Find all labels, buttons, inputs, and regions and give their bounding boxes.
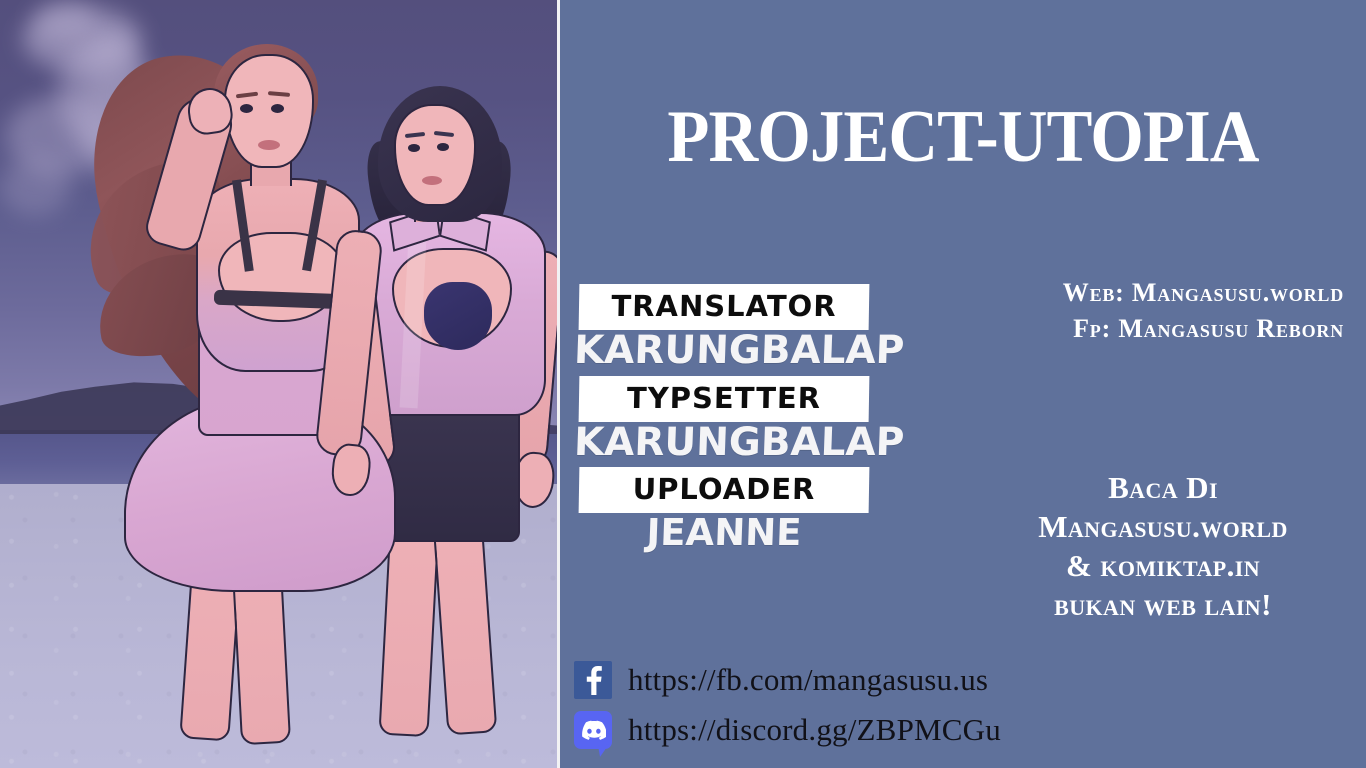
social-links-block: https://fb.com/mangasusu.us https://disc… (574, 655, 1001, 755)
baca-line-2: Mangasusu.world (960, 507, 1366, 546)
read-notice-block: Baca Di Mangasusu.world & komiktap.in bu… (960, 468, 1366, 624)
facebook-icon[interactable] (574, 661, 612, 699)
head (224, 54, 314, 168)
credits-block: TRANSLATOR KARUNGBALAP TYPSETTER KARUNGB… (574, 284, 874, 557)
navy-bra (424, 282, 492, 350)
eye (408, 144, 420, 152)
social-row-facebook[interactable]: https://fb.com/mangasusu.us (574, 655, 1001, 705)
fanpage-line: Fp: Mangasusu Reborn (1063, 311, 1344, 347)
baca-line-1: Baca Di (960, 468, 1366, 507)
eye (437, 143, 449, 151)
cloud (34, 2, 96, 42)
discord-icon[interactable] (574, 711, 612, 749)
discord-url[interactable]: https://discord.gg/ZBPMCGu (628, 712, 1001, 748)
social-row-discord[interactable]: https://discord.gg/ZBPMCGu (574, 705, 1001, 755)
credit-role-uploader: UPLOADER (579, 467, 870, 513)
credits-panel: PROJECT-UTOPIA TRANSLATOR KARUNGBALAP TY… (560, 0, 1366, 768)
head (394, 104, 476, 206)
credit-name-translator: KARUNGBALAP (573, 331, 874, 372)
baca-line-3: & komiktap.in (960, 546, 1366, 585)
eye (271, 104, 284, 113)
cloud (0, 158, 70, 216)
artwork-panel (0, 0, 558, 768)
credit-role-typesetter: TYPSETTER (579, 376, 870, 422)
web-info-block: Web: Mangasusu.world Fp: Mangasusu Rebor… (1063, 275, 1344, 347)
web-line: Web: Mangasusu.world (1063, 275, 1344, 311)
credit-name-uploader: JEANNE (573, 514, 874, 552)
manhwa-credits-page: PROJECT-UTOPIA TRANSLATOR KARUNGBALAP TY… (0, 0, 1366, 768)
panel-divider (557, 0, 560, 768)
credit-role-translator: TRANSLATOR (579, 284, 870, 330)
credit-name-typesetter: KARUNGBALAP (573, 423, 874, 464)
eye (240, 104, 253, 113)
page-title: PROJECT-UTOPIA (588, 100, 1338, 174)
baca-line-4: bukan web lain! (960, 585, 1366, 624)
facebook-url[interactable]: https://fb.com/mangasusu.us (628, 662, 988, 698)
lips (422, 176, 442, 185)
lips (258, 140, 280, 150)
